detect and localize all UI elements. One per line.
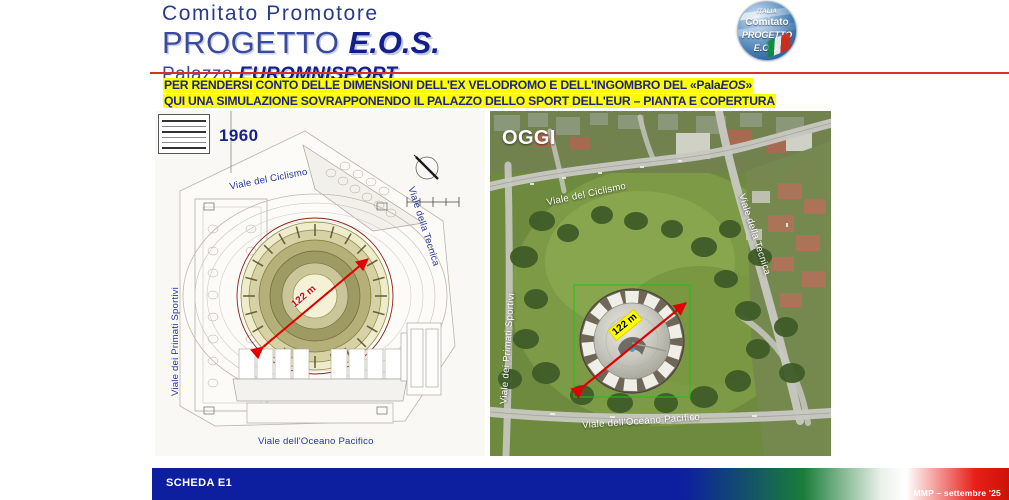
banner-line-1-emphasis: EOS: [720, 78, 745, 92]
aerial-photo-oggi: OGGI Viale del Ciclismo Viale dei Primat…: [490, 111, 831, 456]
comitato-eos-logo: ITALIA Comitato PROGETTO E.O.S.: [737, 1, 797, 61]
street-label-viale-dei-primati-sportivi-1960: Viale dei Primati Sportivi: [170, 287, 181, 396]
slide-root: Comitato Promotore PROGETTO E.O.S. Palaz…: [0, 0, 1009, 500]
aerial-vector-graphic: [490, 111, 831, 456]
footer-credit-label: MMP – settembre '25: [914, 488, 1001, 498]
header-title-eos: E.O.S.: [349, 25, 440, 60]
drawing-title-block: [158, 114, 210, 154]
panel-label-1960: 1960: [219, 126, 258, 146]
banner-line-1-c: »: [745, 78, 752, 92]
plan-drawing-1960: 1960 Viale del Ciclismo Viale dei Primat…: [155, 111, 485, 456]
logo-top-text: ITALIA: [738, 9, 796, 15]
header-subtitle: Comitato Promotore: [162, 0, 722, 26]
logo-badge-circle: ITALIA Comitato PROGETTO E.O.S.: [737, 1, 797, 61]
plan-vector-graphic: [155, 111, 485, 456]
panel-1960-plan: 1960 Viale del Ciclismo Viale dei Primat…: [155, 111, 485, 456]
header-title: PROGETTO E.O.S.: [162, 26, 722, 65]
yellow-banner: PER RENDERSI CONTO DELLE DIMENSIONI DELL…: [163, 78, 776, 108]
panel-oggi-aerial: OGGI Viale del Ciclismo Viale dei Primat…: [490, 111, 831, 456]
street-label-viale-oceano-pacifico-1960: Viale dell'Oceano Pacifico: [258, 436, 374, 447]
header-divider-rule: [150, 72, 1009, 74]
banner-line-1: PER RENDERSI CONTO DELLE DIMENSIONI DELL…: [163, 78, 753, 93]
panel-label-oggi: OGGI: [502, 127, 556, 150]
banner-line-2: QUI UNA SIMULAZIONE SOVRAPPONENDO IL PAL…: [163, 94, 776, 109]
footer-scheda-label: SCHEDA E1: [166, 477, 232, 489]
slide-footer: SCHEDA E1 MMP – settembre '25: [152, 468, 1009, 500]
logo-line-1: Comitato: [738, 18, 796, 28]
banner-line-1-a: PER RENDERSI CONTO DELLE DIMENSIONI DELL…: [164, 78, 720, 92]
header-title-progetto: PROGETTO: [162, 25, 349, 60]
